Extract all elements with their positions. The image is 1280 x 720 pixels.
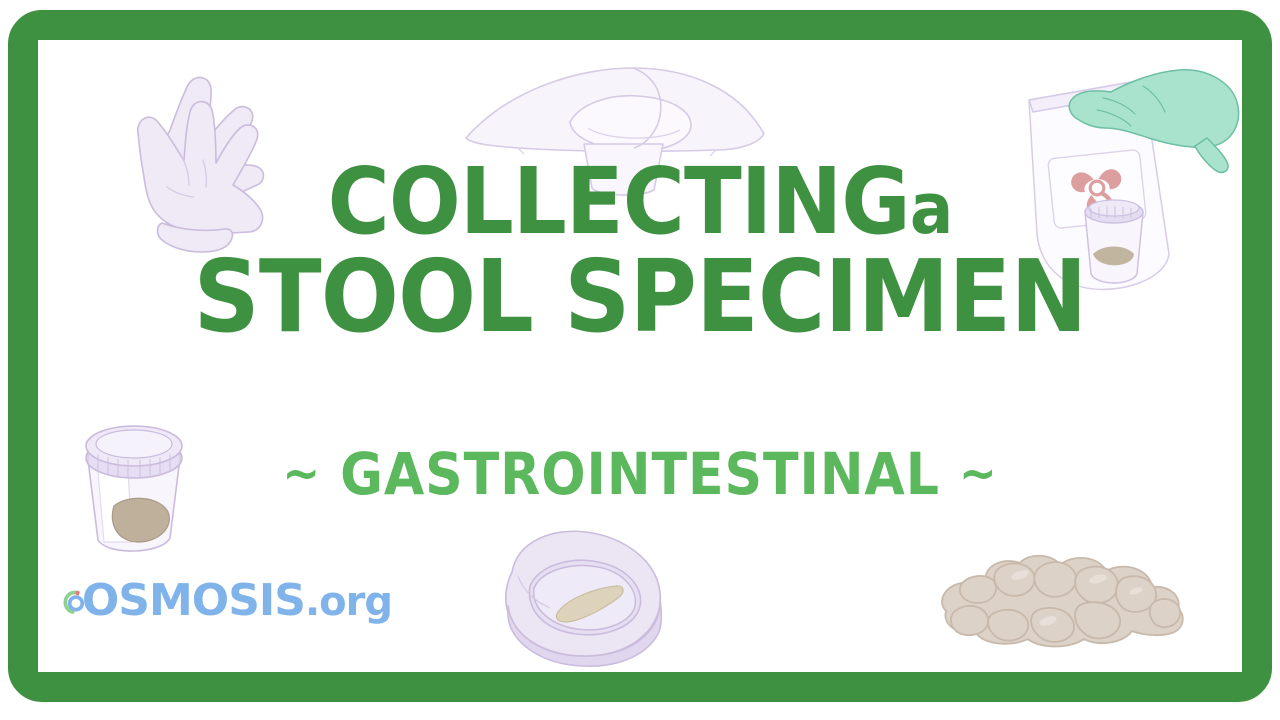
biohazard-specimen-bag-illustration (993, 58, 1242, 318)
video-title-card: COLLECTINGa STOOL SPECIMEN ~ GASTROINTES… (0, 0, 1280, 720)
subtitle-right-tilde: ~ (959, 444, 998, 502)
toilet-hat-illustration (458, 60, 778, 200)
osmosis-logo-text: OSMOSIS.org (82, 579, 392, 623)
examination-gloves-illustration (70, 55, 280, 255)
osmosis-logo[interactable]: OSMOSIS.org (62, 563, 392, 639)
stool-sample-illustration (928, 545, 1198, 660)
bagged-specimen-cup (1085, 200, 1143, 283)
subtitle-text: GASTROINTESTINAL (340, 440, 940, 508)
bedpan-illustration (478, 520, 688, 670)
osmosis-brand: OSMOSIS (82, 575, 305, 626)
subtitle-left-tilde: ~ (282, 444, 321, 502)
osmosis-suffix: .org (305, 579, 392, 625)
subtitle: ~ GASTROINTESTINAL ~ (64, 440, 1216, 508)
